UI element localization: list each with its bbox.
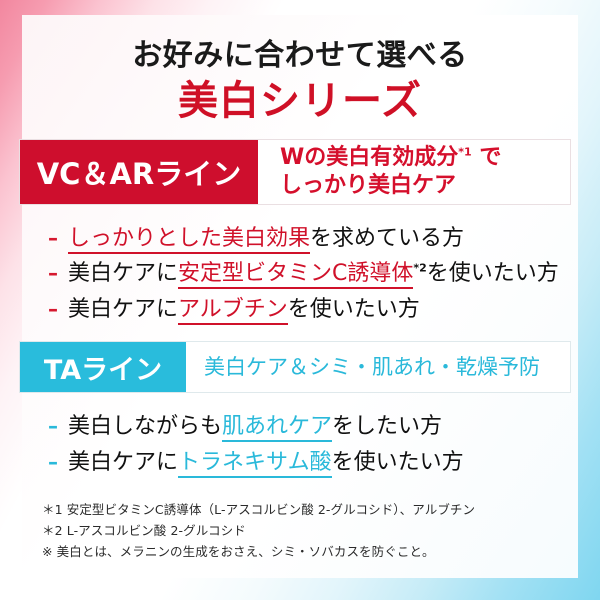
headline-vc-ar: Wの美白有効成分*1 で しっかり美白ケア — [258, 140, 570, 204]
bullet-text: 美白ケアにアルブチンを使いたい方 — [68, 292, 420, 328]
bullet-text: 美白ケアにトラネキサム酸を使いたい方 — [68, 445, 464, 481]
bullet-dash-icon: – — [48, 410, 68, 442]
bullet-text-plain: 美白ケアに — [68, 297, 178, 322]
list-item: – 美白しながらも肌あれケアをしたい方 — [48, 409, 578, 445]
bullet-text: 美白しながらも肌あれケアをしたい方 — [68, 409, 442, 445]
footnote-line: ※ 美白とは、メラニンの生成をおさえ、シミ・ソバカスを防ぐこと。 — [42, 541, 578, 562]
content-card: お好みに合わせて選べる 美白シリーズ VC＆ARライン Wの美白有効成分*1 で… — [22, 15, 578, 578]
bullet-dash-icon: – — [48, 293, 68, 325]
bullet-text-plain: を使いたい方 — [288, 297, 420, 322]
bullet-text-plain: 美白しながらも — [68, 414, 222, 439]
keyword-highlight: しっかりとした美白効果 — [68, 226, 310, 254]
footnote-marker-1: *1 — [458, 146, 471, 159]
bullet-text-plain: を使いたい方 — [427, 261, 559, 286]
footnote-line: ＊1 安定型ビタミンC誘導体（L-アスコルビン酸 2-グルコシド）、アルブチン — [42, 499, 578, 520]
page-title: お好みに合わせて選べる 美白シリーズ — [22, 15, 578, 139]
headline-vc-ar-line-1: Wの美白有効成分*1 で — [280, 144, 570, 171]
bullet-dash-icon: – — [48, 257, 68, 289]
bullet-text-plain: 美白ケアに — [68, 450, 178, 475]
bullet-text-plain: 美白ケアに — [68, 261, 178, 286]
bullet-text-plain: をしたい方 — [332, 414, 442, 439]
list-item: – しっかりとした美白効果を求めている方 — [48, 221, 578, 257]
keyword-highlight: 安定型ビタミンC誘導体 — [178, 261, 413, 289]
badge-vc-ar: VC＆ARライン — [20, 140, 258, 204]
title-line-2: 美白シリーズ — [22, 77, 578, 125]
headline-vc-ar-line-1-text: Wの美白有効成分 — [280, 145, 458, 170]
headline-vc-ar-line-1-tail: で — [472, 145, 502, 170]
bullet-text-plain: を使いたい方 — [332, 450, 464, 475]
keyword-highlight: アルブチン — [178, 297, 288, 325]
bullet-text: しっかりとした美白効果を求めている方 — [68, 221, 464, 257]
bullet-dash-icon: – — [48, 222, 68, 254]
badge-vc-ar-label: VC＆ARライン — [37, 151, 242, 193]
list-item: – 美白ケアにトラネキサム酸を使いたい方 — [48, 445, 578, 481]
section-header-vc-ar: VC＆ARライン Wの美白有効成分*1 で しっかり美白ケア — [19, 139, 571, 205]
keyword-highlight: トラネキサム酸 — [178, 450, 332, 478]
footnotes: ＊1 安定型ビタミンC誘導体（L-アスコルビン酸 2-グルコシド）、アルブチン … — [22, 491, 578, 562]
footnote-line: ＊2 L-アスコルビン酸 2-グルコシド — [42, 520, 578, 541]
bullet-text: 美白ケアに安定型ビタミンC誘導体*2を使いたい方 — [68, 256, 559, 292]
headline-vc-ar-line-2: しっかり美白ケア — [280, 172, 570, 199]
keyword-highlight: 肌あれケア — [222, 414, 332, 442]
headline-ta: 美白ケア＆シミ・肌あれ・乾燥予防 — [186, 342, 570, 392]
headline-ta-line-1: 美白ケア＆シミ・肌あれ・乾燥予防 — [204, 355, 570, 380]
section-header-ta: TAライン 美白ケア＆シミ・肌あれ・乾燥予防 — [19, 341, 571, 393]
list-item: – 美白ケアにアルブチンを使いたい方 — [48, 292, 578, 328]
list-item: – 美白ケアに安定型ビタミンC誘導体*2を使いたい方 — [48, 256, 578, 292]
footnote-marker-2: *2 — [413, 262, 426, 275]
title-line-1: お好みに合わせて選べる — [22, 37, 578, 75]
bullet-list-vc-ar: – しっかりとした美白効果を求めている方 – 美白ケアに安定型ビタミンC誘導体*… — [22, 205, 578, 342]
bullet-text-plain: を求めている方 — [310, 226, 464, 251]
badge-ta: TAライン — [20, 342, 186, 392]
promo-poster: お好みに合わせて選べる 美白シリーズ VC＆ARライン Wの美白有効成分*1 で… — [0, 0, 600, 600]
bullet-list-ta: – 美白しながらも肌あれケアをしたい方 – 美白ケアにトラネキサム酸を使いたい方 — [22, 393, 578, 490]
badge-ta-label: TAライン — [44, 348, 162, 387]
bullet-dash-icon: – — [48, 446, 68, 478]
